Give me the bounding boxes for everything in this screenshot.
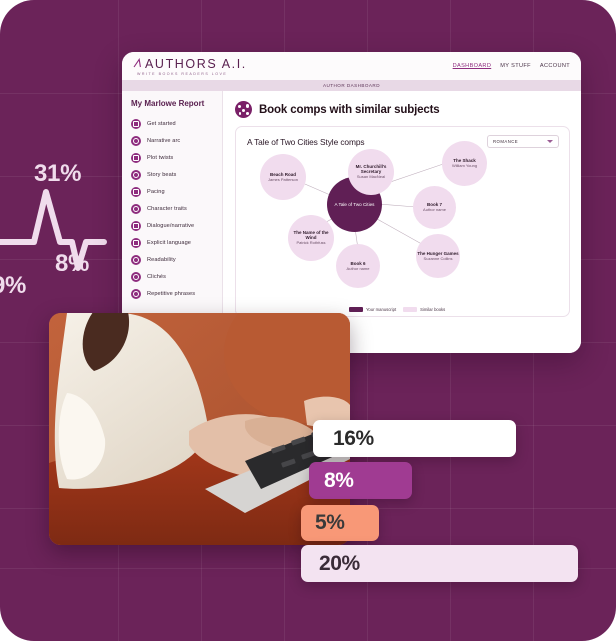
brand-logo[interactable]: AUTHORS A.I. WRITE BOOKS READERS LOVE	[133, 57, 247, 76]
sidebar-item-cliches[interactable]: Clichés	[131, 268, 222, 285]
sidebar-item-label: Character traits	[147, 206, 187, 212]
sidebar-item-label: Clichés	[147, 274, 166, 280]
sidebar-item-readability[interactable]: Readability	[131, 251, 222, 268]
stat-bar-20: 20%	[301, 545, 578, 582]
sidebar-item-repetitive-phrases[interactable]: Repetitive phrases	[131, 285, 222, 302]
stat-bar-8: 8%	[309, 462, 412, 499]
sidebar-item-label: Explicit language	[147, 240, 191, 246]
censor-icon	[131, 238, 141, 248]
node-author: William Young	[452, 164, 477, 168]
legend-swatch	[349, 307, 363, 312]
line-chart-label-peak: 31%	[34, 160, 81, 188]
masks-icon	[131, 204, 141, 214]
chevron-down-icon	[547, 140, 553, 143]
nav-item-my-stuff[interactable]: MY STUFF	[500, 63, 531, 69]
network-nodes-icon	[235, 101, 252, 118]
sidebar-item-get-started[interactable]: Get started	[131, 115, 222, 132]
legend-item-your-manuscript: Your manuscript	[349, 307, 396, 312]
legend-label: Similar books	[420, 307, 445, 312]
authors-ai-dashboard-window: AUTHORS A.I. WRITE BOOKS READERS LOVE DA…	[122, 52, 581, 353]
stat-bar-16: 16%	[313, 420, 516, 457]
legend-swatch	[403, 307, 417, 312]
repeat-icon	[131, 289, 141, 299]
speed-icon	[131, 187, 141, 197]
line-chart-label-dip: 8%	[55, 250, 89, 278]
stat-bar-label: 16%	[333, 427, 374, 451]
graph-node-the-hunger-games[interactable]: The Hunger Games Suzanne Collins	[416, 234, 460, 278]
legend-label: Your manuscript	[366, 307, 396, 312]
sidebar-item-explicit-language[interactable]: Explicit language	[131, 234, 222, 251]
node-title: A Tale of Two Cities	[335, 202, 375, 207]
main-header: Book comps with similar subjects	[235, 101, 570, 118]
node-author: Author name	[347, 267, 370, 271]
graph-node-mr-churchills-secretary[interactable]: Mr. Churchill's Secretary Susan MacNeal	[348, 149, 394, 195]
person-icon	[131, 272, 141, 282]
graph-node-the-name-of-the-wind[interactable]: The Name of the Wind Patrick Rothfuss	[288, 215, 334, 261]
stat-bar-label: 8%	[324, 469, 354, 493]
graph-node-beach-road[interactable]: Beach Road James Patterson	[260, 154, 306, 200]
sidebar-item-label: Readability	[147, 257, 176, 263]
sidebar-item-plot-twists[interactable]: Plot twists	[131, 149, 222, 166]
node-author: Suzanne Collins	[424, 257, 453, 261]
sidebar-item-label: Narrative arc	[147, 138, 180, 144]
author-dashboard-bar: AUTHOR DASHBOARD	[122, 80, 581, 91]
sidebar-item-label: Pacing	[147, 189, 165, 195]
pulse-icon	[131, 170, 141, 180]
sidebar-item-narrative-arc[interactable]: Narrative arc	[131, 132, 222, 149]
comps-network-graph: A Tale of Two Cities Beach Road James Pa…	[236, 149, 569, 298]
logo-wordmark: AUTHORS A.I.	[133, 57, 247, 71]
sidebar-item-label: Plot twists	[147, 155, 173, 161]
graph-node-book-7[interactable]: Book 7 Author name	[413, 186, 456, 229]
graph-node-book-6[interactable]: Book 6 Author name	[336, 244, 380, 288]
node-author: Patrick Rothfuss	[296, 241, 325, 245]
sidebar-item-character-traits[interactable]: Character traits	[131, 200, 222, 217]
legend-item-similar-books: Similar books	[403, 307, 445, 312]
comps-card-header: A Tale of Two Cities Style comps ROMANCE	[236, 127, 569, 148]
graph-node-the-shack[interactable]: The Shack William Young	[442, 141, 487, 186]
dashboard-topbar: AUTHORS A.I. WRITE BOOKS READERS LOVE DA…	[122, 52, 581, 80]
glasses-icon	[131, 255, 141, 265]
logo-a-icon	[133, 58, 144, 69]
node-title: Mr. Churchill's Secretary	[348, 164, 394, 174]
page-title: Book comps with similar subjects	[259, 104, 440, 116]
sidebar-item-pacing[interactable]: Pacing	[131, 183, 222, 200]
author-dashboard-label: AUTHOR DASHBOARD	[323, 83, 380, 88]
wave-icon	[131, 136, 141, 146]
sidebar-item-label: Get started	[147, 121, 176, 127]
line-chart-label-cropped: 9%	[0, 272, 26, 300]
promo-composition: 31% 8% 9% AUTHORS A.I. WRITE BOOKS READE…	[0, 0, 616, 641]
comps-card: A Tale of Two Cities Style comps ROMANCE	[235, 126, 570, 317]
node-author: Author name	[423, 208, 446, 212]
nav-item-account[interactable]: ACCOUNT	[540, 63, 570, 69]
nav-item-dashboard[interactable]: DASHBOARD	[453, 63, 492, 69]
sidebar-item-story-beats[interactable]: Story beats	[131, 166, 222, 183]
twist-icon	[131, 153, 141, 163]
sidebar-item-label: Dialogue/narrative	[147, 223, 194, 229]
node-author: Susan MacNeal	[357, 175, 385, 179]
graph-legend: Your manuscript Similar books	[349, 307, 445, 312]
logo-name: AUTHORS A.I.	[145, 57, 247, 71]
node-author: James Patterson	[268, 178, 298, 182]
sidebar-item-label: Repetitive phrases	[147, 291, 195, 297]
sidebar-item-label: Story beats	[147, 172, 176, 178]
node-title: The Name of the Wind	[288, 230, 334, 240]
rocket-icon	[131, 119, 141, 129]
sidebar-title: My Marlowe Report	[131, 99, 222, 108]
sidebar-item-dialogue-narrative[interactable]: Dialogue/narrative	[131, 217, 222, 234]
stat-bar-label: 20%	[319, 552, 360, 576]
speech-bubble-icon	[131, 221, 141, 231]
genre-dropdown[interactable]: ROMANCE	[487, 135, 559, 148]
stat-bar-label: 5%	[315, 511, 345, 535]
dashboard-topnav: DASHBOARD MY STUFF ACCOUNT	[453, 63, 570, 69]
comps-card-title: A Tale of Two Cities Style comps	[247, 137, 365, 147]
stat-bar-5: 5%	[301, 505, 379, 541]
genre-dropdown-value: ROMANCE	[493, 139, 518, 144]
logo-tagline: WRITE BOOKS READERS LOVE	[137, 72, 247, 76]
